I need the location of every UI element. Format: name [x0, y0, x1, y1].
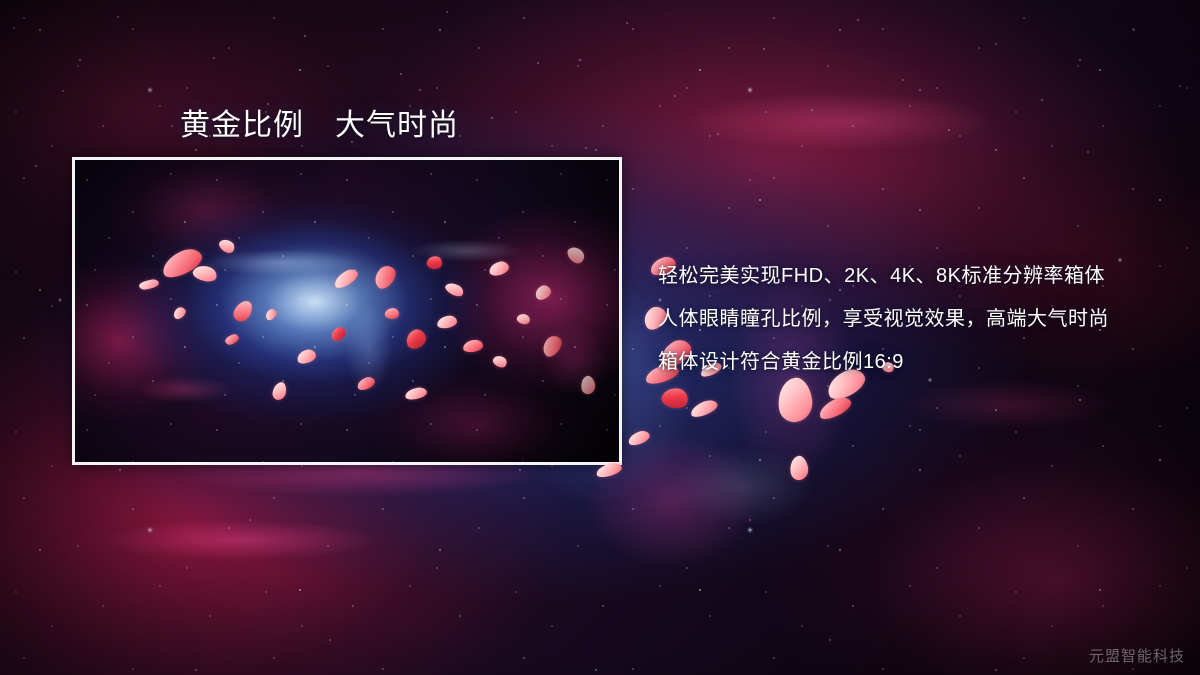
screen-vignette — [75, 160, 619, 462]
feature-line: 人体眼睛瞳孔比例，享受视觉效果，高端大气时尚 — [658, 298, 1138, 341]
led-display-preview-frame — [72, 157, 622, 465]
presentation-slide: 黄金比例 大气时尚 — [0, 0, 1200, 675]
company-watermark: 元盟智能科技 — [1089, 645, 1185, 666]
feature-line: 轻松完美实现FHD、2K、4K、8K标准分辨率箱体 — [658, 255, 1138, 298]
page-title: 黄金比例 大气时尚 — [180, 100, 459, 144]
feature-description-block: 轻松完美实现FHD、2K、4K、8K标准分辨率箱体 人体眼睛瞳孔比例，享受视觉效… — [658, 255, 1138, 384]
feature-line: 箱体设计符合黄金比例16:9 — [658, 341, 1138, 384]
